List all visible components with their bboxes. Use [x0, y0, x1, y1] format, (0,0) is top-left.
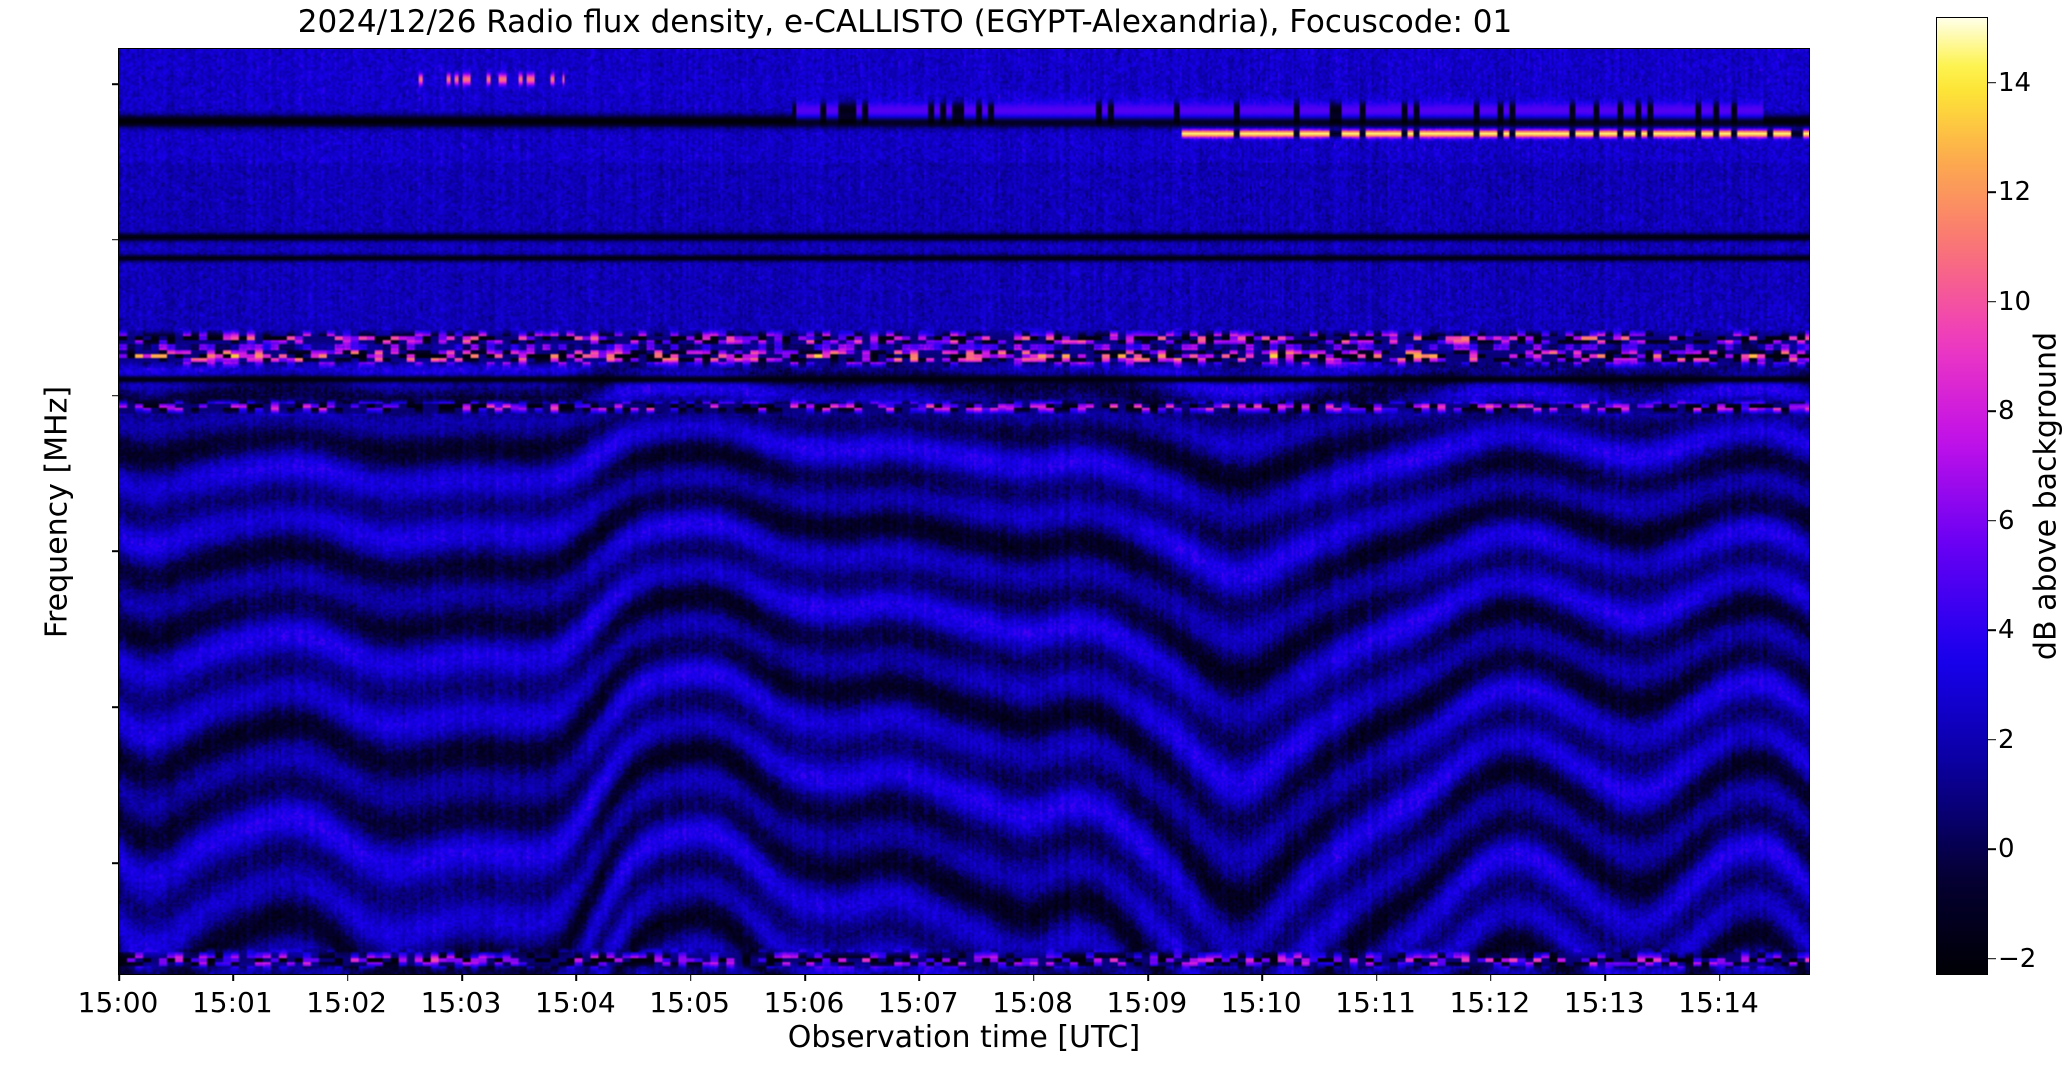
- x-axis-tick-label: 15:07: [878, 986, 959, 1019]
- colorbar-tick-mark: [1988, 629, 1996, 631]
- colorbar-label: dB above background: [2029, 332, 2064, 660]
- colorbar-tick-mark: [1988, 191, 1996, 193]
- x-axis-tick-mark: [804, 974, 806, 981]
- colorbar-tick-mark: [1988, 410, 1996, 412]
- colorbar-tick-label: 10: [1998, 287, 2031, 317]
- colorbar-tick-label: 14: [1998, 68, 2031, 98]
- y-axis-label: Frequency [MHz]: [40, 385, 75, 637]
- x-axis-tick-label: 15:04: [535, 986, 616, 1019]
- colorbar-tick-mark: [1988, 82, 1996, 84]
- y-axis-tick-mark: [112, 706, 119, 708]
- x-axis-tick-label: 15:01: [192, 986, 273, 1019]
- x-axis-tick-mark: [918, 974, 920, 981]
- spectrogram-figure: 2024/12/26 Radio flux density, e-CALLIST…: [0, 0, 2066, 1067]
- y-axis-tick-mark: [112, 395, 119, 397]
- x-axis-tick-mark: [1719, 974, 1721, 981]
- x-axis-tick-label: 15:00: [78, 986, 159, 1019]
- x-axis-tick-mark: [347, 974, 349, 981]
- x-axis-tick-mark: [233, 974, 235, 981]
- x-axis-tick-mark: [1147, 974, 1149, 981]
- x-axis-tick-label: 15:12: [1450, 986, 1531, 1019]
- y-axis-tick-mark: [112, 862, 119, 864]
- y-axis-tick-mark: [112, 239, 119, 241]
- x-axis-tick-mark: [1033, 974, 1035, 981]
- colorbar-tick-mark: [1988, 848, 1996, 850]
- colorbar-tick-mark: [1988, 958, 1996, 960]
- colorbar-tick-label: 4: [1998, 615, 2015, 645]
- x-axis-label: Observation time [UTC]: [118, 1020, 1810, 1055]
- x-axis-tick-mark: [1376, 974, 1378, 981]
- x-axis-tick-mark: [1490, 974, 1492, 981]
- colorbar-tick-label: 6: [1998, 506, 2015, 536]
- x-axis-tick-label: 15:08: [992, 986, 1073, 1019]
- colorbar-gradient: [1937, 18, 1987, 974]
- x-axis-tick-label: 15:06: [764, 986, 845, 1019]
- x-axis-tick-label: 15:03: [421, 986, 502, 1019]
- x-axis-tick-label: 15:10: [1221, 986, 1302, 1019]
- x-axis-tick-label: 15:09: [1107, 986, 1188, 1019]
- spectrogram-image: [119, 49, 1809, 974]
- colorbar-tick-label: 8: [1998, 396, 2015, 426]
- x-axis-tick-mark: [1261, 974, 1263, 981]
- x-axis-tick-mark: [690, 974, 692, 981]
- page-title: 2024/12/26 Radio flux density, e-CALLIST…: [0, 4, 1810, 40]
- y-axis-tick-mark: [112, 83, 119, 85]
- x-axis-tick-label: 15:02: [306, 986, 387, 1019]
- x-axis-tick-mark: [576, 974, 578, 981]
- colorbar-tick-mark: [1988, 520, 1996, 522]
- colorbar-tick-label: 12: [1998, 177, 2031, 207]
- x-axis-tick-mark: [461, 974, 463, 981]
- x-axis-tick-mark: [1604, 974, 1606, 981]
- colorbar-tick-label: 0: [1998, 834, 2015, 864]
- colorbar-tick-mark: [1988, 739, 1996, 741]
- spectrogram-plot-area[interactable]: Frequency [MHz]: [118, 48, 1810, 975]
- colorbar-tick-mark: [1988, 301, 1996, 303]
- x-axis-tick-label: 15:05: [649, 986, 730, 1019]
- colorbar-tick-label: −2: [1998, 944, 2036, 974]
- colorbar: [1936, 17, 1988, 975]
- colorbar-tick-label: 2: [1998, 725, 2015, 755]
- y-axis-tick-mark: [112, 551, 119, 553]
- x-axis-tick-label: 15:11: [1335, 986, 1416, 1019]
- x-axis-tick-label: 15:13: [1564, 986, 1645, 1019]
- x-axis-tick-label: 15:14: [1678, 986, 1759, 1019]
- x-axis-tick-mark: [118, 974, 120, 981]
